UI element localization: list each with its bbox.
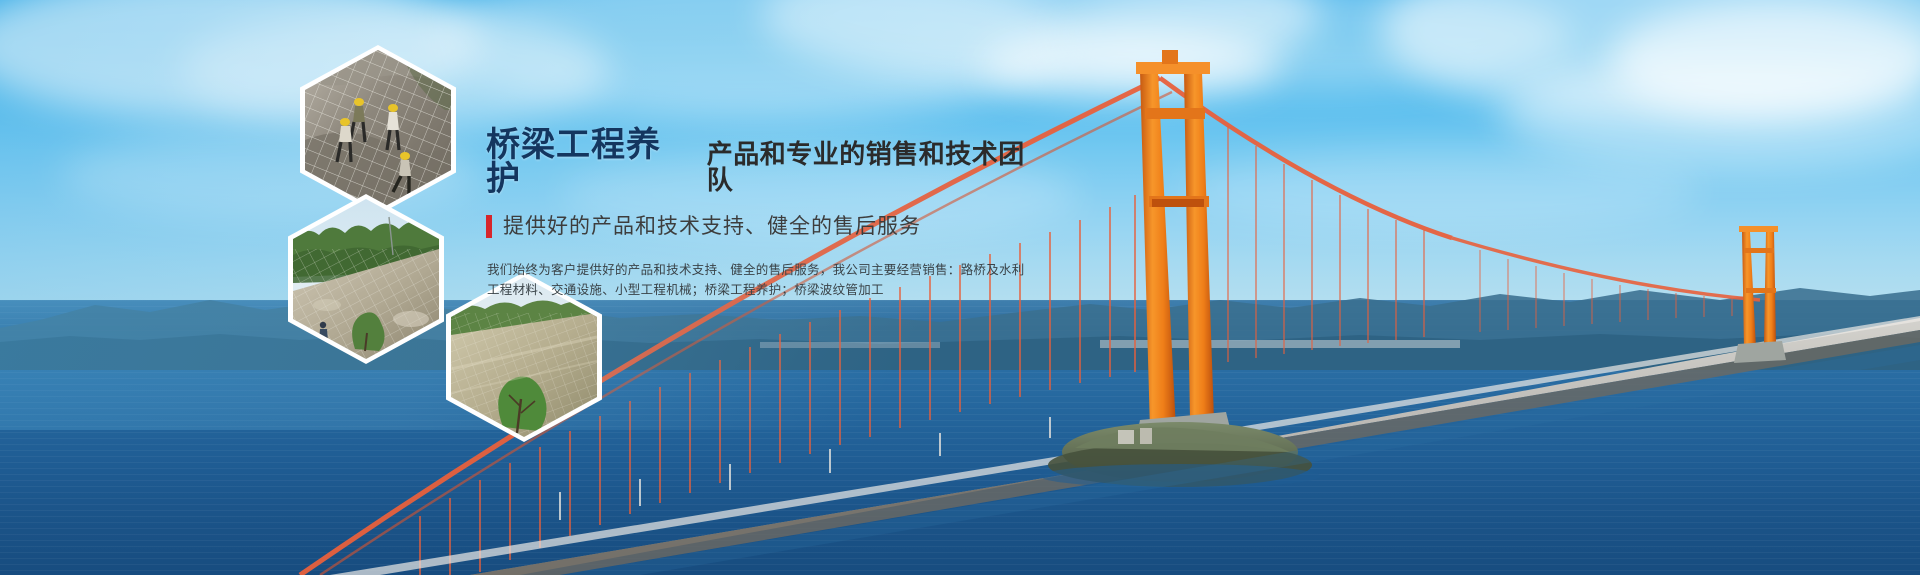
accent-bar-icon <box>486 215 492 238</box>
hex-photo-inner <box>305 50 451 210</box>
hex-photo-inner <box>293 199 439 359</box>
headline-primary: 桥梁工程养护 <box>486 128 693 196</box>
subheadline-row: 提供好的产品和技术支持、健全的售后服务 <box>486 215 1046 238</box>
headline-row: 桥梁工程养护 产品和专业的销售和技术团队 <box>486 128 1046 196</box>
hero-banner: 桥梁工程养护 产品和专业的销售和技术团队 提供好的产品和技术支持、健全的售后服务… <box>0 0 1920 575</box>
subheadline-text: 提供好的产品和技术支持、健全的售后服务 <box>503 216 921 237</box>
banner-text-block: 桥梁工程养护 产品和专业的销售和技术团队 提供好的产品和技术支持、健全的售后服务… <box>486 128 1046 300</box>
description-line-1: 我们始终为客户提供好的产品和技术支持、健全的售后服务，我公司主要经营销售：路桥及… <box>487 260 957 280</box>
headline-secondary: 产品和专业的销售和技术团队 <box>707 142 1046 196</box>
banner-description: 我们始终为客户提供好的产品和技术支持、健全的售后服务，我公司主要经营销售：路桥及… <box>487 260 957 300</box>
description-line-2: 工程材料、交通设施、小型工程机械；桥梁工程养护；桥梁波纹管加工 <box>487 280 957 300</box>
hex-photo-inner <box>451 277 597 437</box>
bridge-tower-main <box>1132 50 1236 458</box>
